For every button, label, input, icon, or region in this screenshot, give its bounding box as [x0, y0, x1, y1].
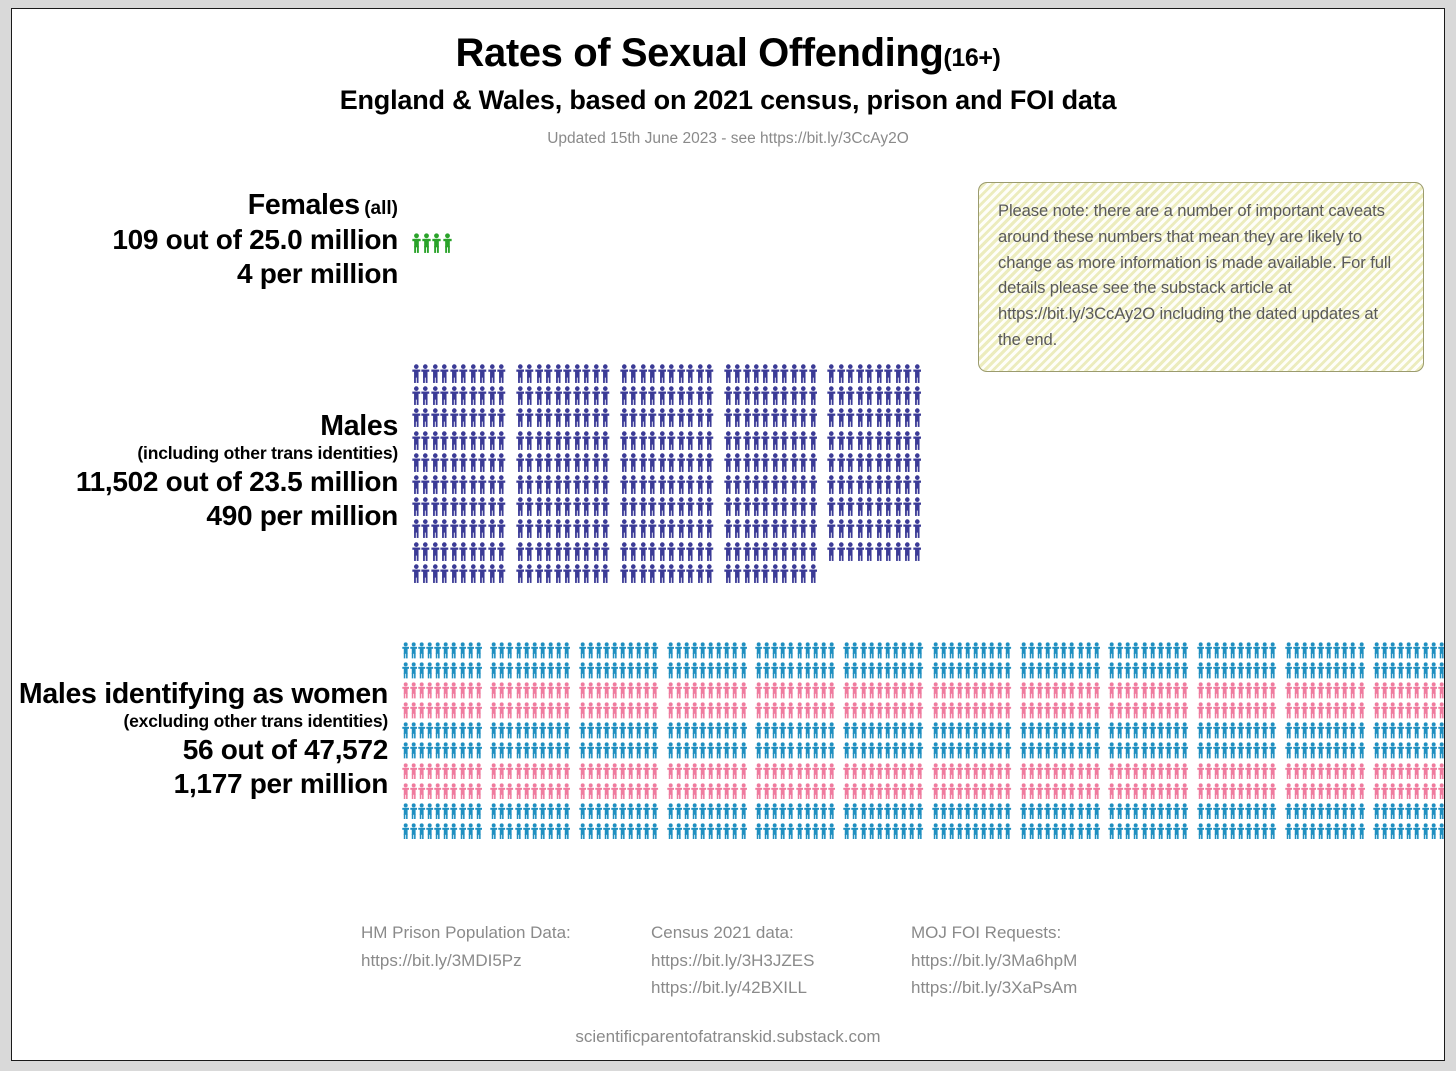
person-icon: [440, 364, 449, 383]
person-icon: [809, 431, 818, 450]
person-icon: [667, 742, 674, 759]
person-icon: [1052, 722, 1059, 739]
pictogram-group: [843, 783, 924, 800]
person-icon: [1213, 763, 1220, 780]
person-icon: [900, 642, 907, 659]
person-icon: [523, 783, 530, 800]
person-icon: [1229, 662, 1236, 679]
person-icon: [1028, 803, 1035, 820]
person-icon: [876, 722, 883, 739]
person-icon: [916, 662, 923, 679]
person-icon: [780, 542, 789, 561]
person-icon: [686, 408, 695, 427]
person-icon: [1253, 763, 1260, 780]
person-icon: [948, 783, 955, 800]
source-label-prison: HM Prison Population Data:: [361, 919, 651, 947]
person-icon: [1325, 702, 1332, 719]
person-icon: [827, 475, 836, 494]
pictogram-row: [412, 364, 931, 383]
person-icon: [1004, 803, 1011, 820]
person-icon: [1245, 823, 1252, 840]
person-icon: [402, 662, 409, 679]
person-icon: [573, 497, 582, 516]
person-icon: [1213, 742, 1220, 759]
person-icon: [667, 702, 674, 719]
pictogram-group: [412, 542, 507, 561]
person-icon: [1173, 642, 1180, 659]
person-icon: [875, 408, 884, 427]
person-icon: [715, 763, 722, 780]
person-icon: [421, 542, 430, 561]
person-icon: [763, 642, 770, 659]
person-icon: [686, 431, 695, 450]
person-icon: [412, 519, 421, 538]
person-icon: [418, 803, 425, 820]
person-icon: [1229, 803, 1236, 820]
person-icon: [1422, 722, 1429, 739]
person-icon: [506, 682, 513, 699]
person-icon: [1413, 702, 1420, 719]
person-icon: [1068, 783, 1075, 800]
person-icon: [843, 763, 850, 780]
person-icon: [611, 722, 618, 739]
person-icon: [450, 722, 457, 739]
person-icon: [908, 742, 915, 759]
person-icon: [563, 803, 570, 820]
person-icon: [1245, 783, 1252, 800]
person-icon: [894, 542, 903, 561]
person-icon: [1108, 722, 1115, 739]
pictogram-group: [1373, 642, 1445, 659]
person-icon: [469, 386, 478, 405]
person-icon: [516, 519, 525, 538]
pictogram-row: [402, 783, 1445, 800]
person-icon: [892, 763, 899, 780]
person-icon: [1093, 642, 1100, 659]
person-icon: [603, 642, 610, 659]
person-icon: [837, 364, 846, 383]
person-icon: [683, 742, 690, 759]
person-icon: [1020, 783, 1027, 800]
person-icon: [635, 642, 642, 659]
person-icon: [1044, 742, 1051, 759]
person-icon: [827, 542, 836, 561]
person-icon: [790, 453, 799, 472]
person-icon: [752, 497, 761, 516]
person-icon: [1285, 823, 1292, 840]
source-link-prison-1[interactable]: https://bit.ly/3MDI5Pz: [361, 947, 651, 975]
person-icon: [459, 742, 466, 759]
source-link-foi-1[interactable]: https://bit.ly/3Ma6hpM: [911, 947, 1171, 975]
person-icon: [535, 497, 544, 516]
person-icon: [523, 763, 530, 780]
person-icon: [535, 542, 544, 561]
person-icon: [884, 642, 891, 659]
person-icon: [603, 783, 610, 800]
person-icon: [475, 662, 482, 679]
person-icon: [1229, 823, 1236, 840]
person-icon: [683, 823, 690, 840]
person-icon: [865, 497, 874, 516]
person-icon: [523, 823, 530, 840]
person-icon: [459, 453, 468, 472]
person-icon: [827, 497, 836, 516]
person-icon: [868, 702, 875, 719]
person-icon: [651, 722, 658, 739]
person-icon: [515, 682, 522, 699]
person-icon: [426, 642, 433, 659]
person-icon: [799, 519, 808, 538]
person-icon: [856, 519, 865, 538]
person-icon: [1213, 662, 1220, 679]
person-icon: [1381, 763, 1388, 780]
person-icon: [980, 763, 987, 780]
person-icon: [996, 642, 1003, 659]
person-icon: [707, 662, 714, 679]
person-icon: [1438, 803, 1445, 820]
person-icon: [900, 783, 907, 800]
pictogram-group: [932, 662, 1013, 679]
person-icon: [884, 823, 891, 840]
person-icon: [1052, 783, 1059, 800]
person-icon: [1108, 742, 1115, 759]
person-icon: [876, 742, 883, 759]
person-icon: [498, 742, 505, 759]
person-icon: [964, 682, 971, 699]
person-icon: [733, 408, 742, 427]
person-icon: [972, 642, 979, 659]
person-icon: [601, 475, 610, 494]
person-icon: [908, 702, 915, 719]
person-icon: [410, 783, 417, 800]
person-icon: [1020, 662, 1027, 679]
person-icon: [723, 662, 730, 679]
person-icon: [643, 783, 650, 800]
person-icon: [1358, 702, 1365, 719]
person-icon: [469, 475, 478, 494]
person-icon: [1333, 682, 1340, 699]
person-icon: [1197, 742, 1204, 759]
person-icon: [812, 722, 819, 739]
person-icon: [828, 682, 835, 699]
person-icon: [705, 497, 714, 516]
person-icon: [752, 364, 761, 383]
person-icon: [1341, 702, 1348, 719]
person-icon: [820, 742, 827, 759]
person-icon: [1325, 682, 1332, 699]
person-icon: [1301, 642, 1308, 659]
pictogram-group: [412, 431, 507, 450]
person-icon: [431, 564, 440, 583]
row-subtitle-males: (including other trans identities): [12, 443, 398, 464]
person-icon: [469, 519, 478, 538]
person-icon: [539, 702, 546, 719]
person-icon: [696, 564, 705, 583]
person-icon: [1397, 742, 1404, 759]
person-icon: [856, 408, 865, 427]
person-icon: [648, 364, 657, 383]
person-icon: [1124, 642, 1131, 659]
person-icon: [595, 682, 602, 699]
person-icon: [1253, 642, 1260, 659]
person-icon: [515, 662, 522, 679]
person-icon: [900, 722, 907, 739]
person-icon: [972, 763, 979, 780]
person-icon: [1124, 742, 1131, 759]
person-icon: [627, 662, 634, 679]
person-icon: [635, 823, 642, 840]
person-icon: [469, 431, 478, 450]
person-icon: [980, 702, 987, 719]
person-icon: [1181, 682, 1188, 699]
person-icon: [611, 662, 618, 679]
person-icon: [908, 783, 915, 800]
person-icon: [851, 722, 858, 739]
pictogram-group: [579, 763, 660, 780]
person-icon: [620, 408, 629, 427]
person-icon: [948, 763, 955, 780]
person-icon: [940, 823, 947, 840]
person-icon: [1141, 642, 1148, 659]
pictogram-group: [412, 364, 507, 383]
person-icon: [828, 763, 835, 780]
person-icon: [579, 662, 586, 679]
person-icon: [442, 823, 449, 840]
person-icon: [875, 453, 884, 472]
pictogram-group: [1373, 803, 1445, 820]
person-icon: [892, 783, 899, 800]
person-icon: [1269, 763, 1276, 780]
person-icon: [828, 823, 835, 840]
person-icon: [555, 722, 562, 739]
person-icon: [740, 763, 747, 780]
person-icon: [431, 386, 440, 405]
person-icon: [715, 783, 722, 800]
person-icon: [1381, 682, 1388, 699]
person-icon: [860, 682, 867, 699]
person-icon: [677, 453, 686, 472]
person-icon: [956, 823, 963, 840]
person-icon: [1052, 763, 1059, 780]
person-icon: [796, 823, 803, 840]
person-icon: [547, 722, 554, 739]
person-icon: [860, 823, 867, 840]
person-icon: [1373, 803, 1380, 820]
source-label-foi: MOJ FOI Requests:: [911, 919, 1171, 947]
person-icon: [1085, 722, 1092, 739]
pictogram-group: [667, 702, 748, 719]
person-icon: [478, 408, 487, 427]
pictogram-group: [1373, 682, 1445, 699]
person-icon: [539, 783, 546, 800]
person-icon: [1269, 662, 1276, 679]
person-icon: [1405, 702, 1412, 719]
person-icon: [948, 662, 955, 679]
attribution-link[interactable]: scientificparentofatranskid.substack.com: [12, 1027, 1444, 1047]
person-icon: [980, 722, 987, 739]
person-icon: [980, 803, 987, 820]
source-link-census-2[interactable]: https://bit.ly/42BXILL: [651, 974, 911, 1002]
person-icon: [412, 431, 421, 450]
person-icon: [1349, 823, 1356, 840]
person-icon: [554, 519, 563, 538]
person-icon: [828, 783, 835, 800]
person-icon: [592, 519, 601, 538]
person-icon: [651, 763, 658, 780]
person-icon: [876, 682, 883, 699]
person-icon: [498, 763, 505, 780]
person-icon: [1149, 783, 1156, 800]
pictogram-group: [579, 662, 660, 679]
person-icon: [525, 542, 534, 561]
person-icon: [820, 823, 827, 840]
person-icon: [884, 431, 893, 450]
person-icon: [812, 682, 819, 699]
person-icon: [908, 722, 915, 739]
pictogram-group: [1373, 823, 1445, 840]
person-icon: [573, 364, 582, 383]
person-icon: [450, 763, 457, 780]
person-icon: [603, 682, 610, 699]
person-icon: [733, 453, 742, 472]
person-icon: [804, 783, 811, 800]
person-icon: [980, 823, 987, 840]
person-icon: [894, 364, 903, 383]
person-icon: [843, 742, 850, 759]
person-icon: [603, 763, 610, 780]
person-icon: [1269, 682, 1276, 699]
person-icon: [554, 431, 563, 450]
person-icon: [1205, 642, 1212, 659]
person-icon: [620, 386, 629, 405]
person-icon: [643, 763, 650, 780]
person-icon: [1132, 642, 1139, 659]
person-icon: [629, 475, 638, 494]
person-icon: [412, 386, 421, 405]
person-icon: [1108, 803, 1115, 820]
person-icon: [629, 519, 638, 538]
person-icon: [828, 803, 835, 820]
person-icon: [964, 722, 971, 739]
person-icon: [731, 702, 738, 719]
person-icon: [996, 682, 1003, 699]
person-icon: [948, 803, 955, 820]
pictogram-row: [412, 519, 931, 538]
person-icon: [658, 564, 667, 583]
person-icon: [1438, 642, 1445, 659]
person-icon: [1413, 763, 1420, 780]
source-link-census-1[interactable]: https://bit.ly/3H3JZES: [651, 947, 911, 975]
person-icon: [761, 542, 770, 561]
person-icon: [442, 783, 449, 800]
person-icon: [1028, 783, 1035, 800]
person-icon: [1317, 682, 1324, 699]
person-icon: [1349, 682, 1356, 699]
pictogram-group: [827, 408, 922, 427]
person-icon: [843, 722, 850, 739]
person-icon: [667, 823, 674, 840]
person-icon: [554, 542, 563, 561]
person-icon: [771, 364, 780, 383]
source-link-foi-2[interactable]: https://bit.ly/3XaPsAm: [911, 974, 1171, 1002]
person-icon: [846, 475, 855, 494]
person-icon: [459, 642, 466, 659]
person-icon: [796, 803, 803, 820]
person-icon: [658, 519, 667, 538]
infographic-page: Rates of Sexual Offending(16+) England &…: [11, 8, 1445, 1061]
person-icon: [544, 475, 553, 494]
person-icon: [1004, 662, 1011, 679]
person-icon: [1085, 763, 1092, 780]
person-icon: [592, 386, 601, 405]
person-icon: [996, 702, 1003, 719]
person-icon: [639, 519, 648, 538]
pictogram-group: [620, 431, 715, 450]
person-icon: [908, 642, 915, 659]
person-icon: [421, 453, 430, 472]
person-icon: [467, 742, 474, 759]
person-icon: [1077, 702, 1084, 719]
person-icon: [535, 386, 544, 405]
person-icon: [658, 453, 667, 472]
person-icon: [1341, 682, 1348, 699]
person-icon: [876, 642, 883, 659]
person-icon: [1317, 803, 1324, 820]
person-icon: [1213, 823, 1220, 840]
person-icon: [699, 722, 706, 739]
person-icon: [1132, 742, 1139, 759]
person-icon: [488, 408, 497, 427]
pictogram-group: [402, 803, 483, 820]
person-icon: [1085, 783, 1092, 800]
person-icon: [771, 542, 780, 561]
person-icon: [894, 497, 903, 516]
person-icon: [410, 722, 417, 739]
person-icon: [475, 642, 482, 659]
person-icon: [467, 803, 474, 820]
person-icon: [948, 742, 955, 759]
person-icon: [779, 642, 786, 659]
pictogram-group: [755, 803, 836, 820]
person-icon: [440, 519, 449, 538]
person-icon: [900, 662, 907, 679]
person-icon: [1108, 783, 1115, 800]
person-icon: [410, 702, 417, 719]
person-icon: [771, 682, 778, 699]
person-icon: [809, 564, 818, 583]
person-icon: [903, 519, 912, 538]
person-icon: [563, 475, 572, 494]
person-icon: [894, 431, 903, 450]
pictogram-group: [1108, 642, 1189, 659]
person-icon: [555, 803, 562, 820]
person-icon: [440, 453, 449, 472]
person-icon: [1229, 742, 1236, 759]
person-icon: [1197, 763, 1204, 780]
pictogram-group: [843, 702, 924, 719]
person-icon: [1325, 642, 1332, 659]
person-icon: [651, 642, 658, 659]
person-icon: [743, 431, 752, 450]
person-icon: [523, 642, 530, 659]
person-icon: [442, 803, 449, 820]
person-icon: [1173, 763, 1180, 780]
person-icon: [812, 763, 819, 780]
pictogram-group: [1197, 702, 1278, 719]
person-icon: [667, 386, 676, 405]
person-icon: [611, 642, 618, 659]
person-icon: [884, 519, 893, 538]
